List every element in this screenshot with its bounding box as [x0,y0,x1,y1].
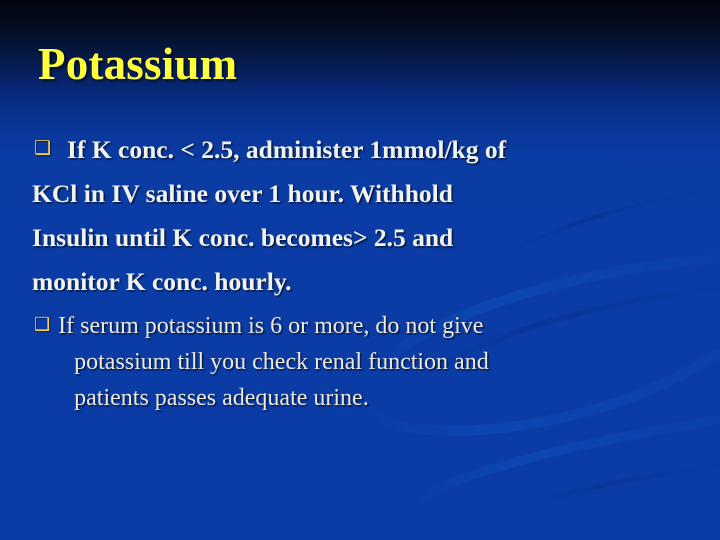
bullet-1-line-4: monitor K conc. hourly. [32,260,694,304]
bullet-2-text: If serum potassium is 6 or more, do not … [58,308,694,416]
bullet-1-text: If K conc. < 2.5, administer 1mmol/kg of… [32,128,694,304]
slide-title: Potassium [38,38,237,90]
bullet-2-line-1: If serum potassium is 6 or more, do not … [58,308,694,344]
bullet-item-2: ❑ If serum potassium is 6 or more, do no… [34,308,694,416]
slide-canvas: Potassium ❑ If K conc. < 2.5, administer… [0,0,720,540]
bullet-2-line-2: potassium till you check renal function … [58,344,694,380]
slide-body: ❑ If K conc. < 2.5, administer 1mmol/kg … [34,128,694,416]
bullet-2-line-3: patients passes adequate urine. [58,380,694,416]
hollow-square-bullet-icon: ❑ [34,308,50,334]
bullet-item-1: ❑ If K conc. < 2.5, administer 1mmol/kg … [34,128,694,304]
bullet-1-line-2: KCl in IV saline over 1 hour. Withhold [32,172,694,216]
bullet-1-line-3: Insulin until K conc. becomes> 2.5 and [32,216,694,260]
bullet-1-line-1: If K conc. < 2.5, administer 1mmol/kg of [61,128,694,172]
